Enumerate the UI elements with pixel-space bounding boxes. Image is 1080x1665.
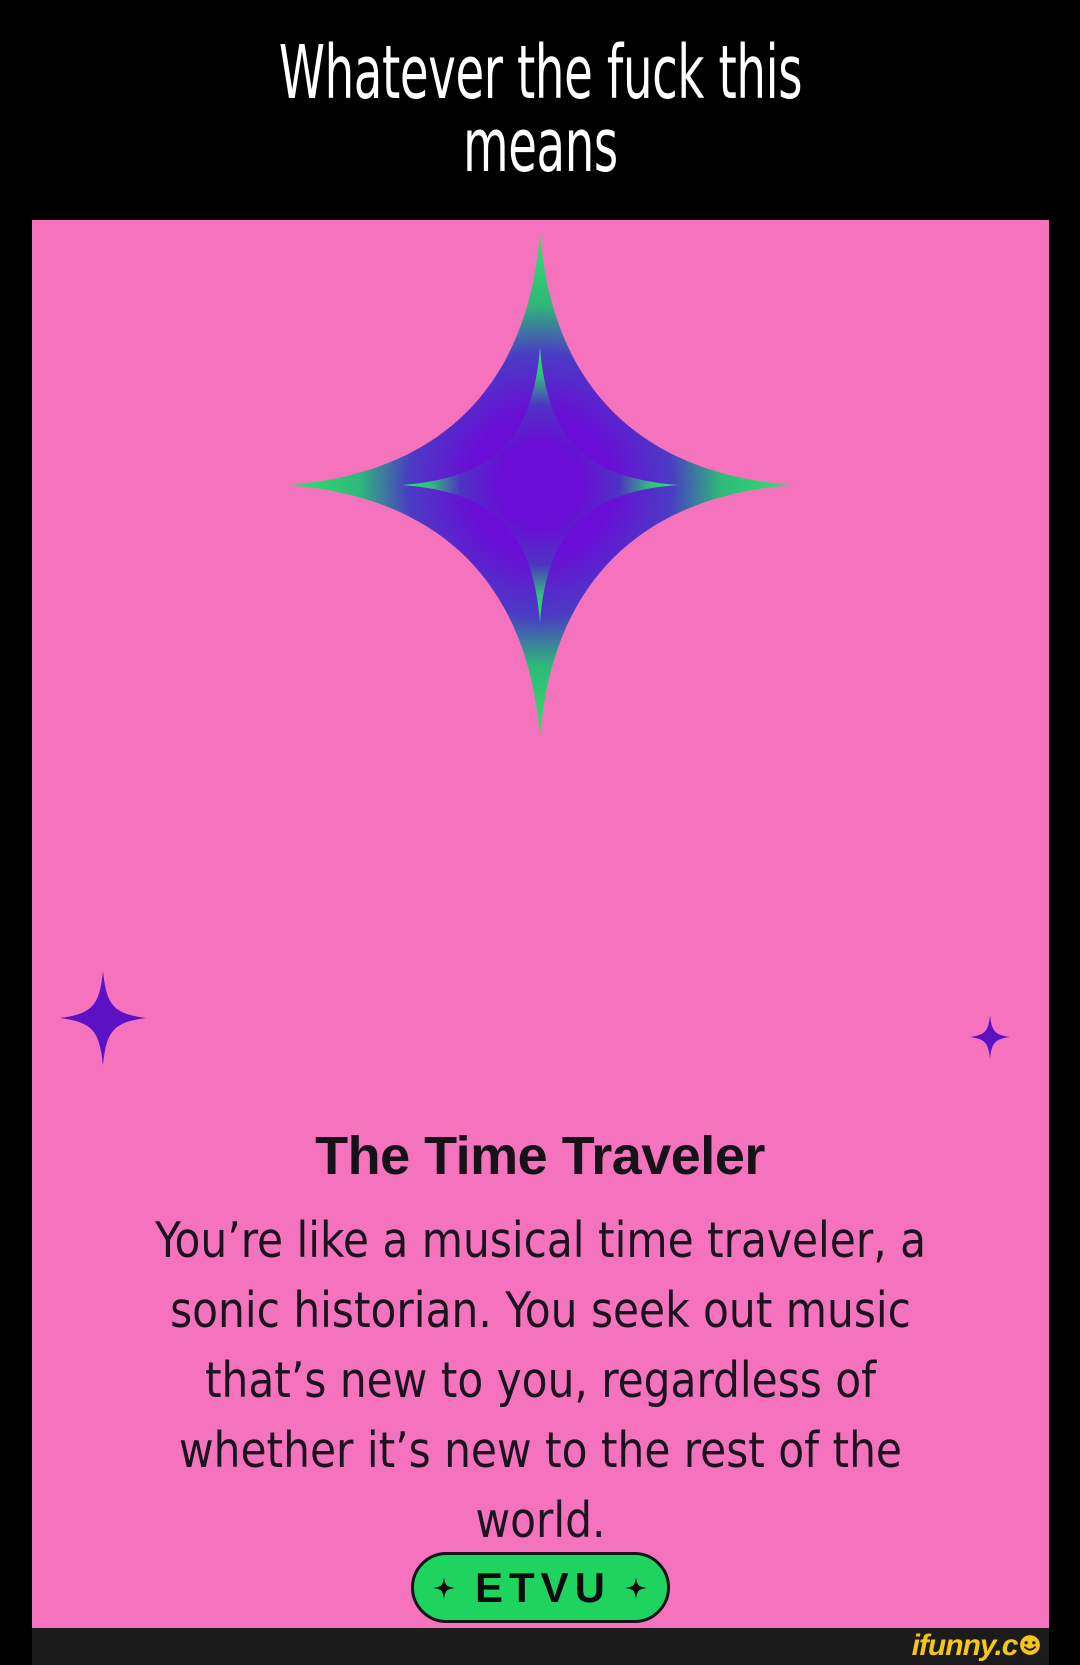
- smiley-icon: [1019, 1634, 1041, 1656]
- persona-title: The Time Traveler: [32, 1125, 1049, 1187]
- watermark-text: ifunny.c: [912, 1629, 1018, 1663]
- four-point-star-icon: [280, 225, 800, 745]
- caption-bar: Whatever the fuck this means: [32, 0, 1049, 220]
- sparkle-icon: [625, 1577, 647, 1599]
- ifunny-watermark: ifunny.c: [912, 1630, 1041, 1662]
- meme-image: Whatever the fuck this means: [32, 0, 1049, 1665]
- sparkle-icon-left: [60, 970, 146, 1066]
- etvu-label: ETVU: [469, 1564, 611, 1612]
- persona-description: You’re like a musical time traveler, a s…: [133, 1206, 946, 1556]
- sparkle-icon: [433, 1577, 455, 1599]
- etvu-badge[interactable]: ETVU: [411, 1552, 670, 1623]
- bottom-bar: [32, 1628, 1049, 1665]
- caption-text: Whatever the fuck this means: [184, 37, 896, 182]
- sparkle-icon-right: [970, 1015, 1010, 1059]
- persona-card: The Time Traveler You’re like a musical …: [32, 220, 1049, 1628]
